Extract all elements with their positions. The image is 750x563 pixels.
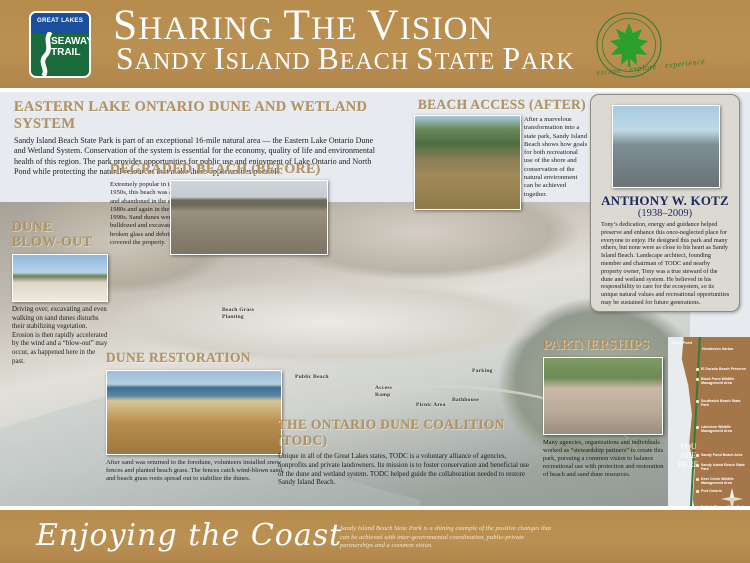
photo-beach-access [414,115,521,210]
section-body-todc: Unique in all of the Great Lakes states,… [278,452,536,487]
photo-anthony-kotz-image [613,106,719,187]
map-place-label: Port Ontario [701,489,747,493]
section-heading-dune-blowout-line2: BLOW-OUT [12,235,110,250]
map-site-marker [696,464,699,467]
section-heading-dune-blowout-line1: DUNE [12,220,110,235]
panel-kotz-memorial: ANTHONY W. KOTZ (1938–2009) Tony’s dedic… [590,94,740,312]
map-site-marker [696,454,699,457]
map-place-label: Stony Point [672,341,712,345]
section-heading-beach-access: BEACH ACCESS (AFTER) [418,97,588,113]
seaway-label-line2: TRAIL [51,47,89,58]
map-site-marker [696,478,699,481]
seaway-trail-logo-inner: GREAT LAKES SEAWAY TRAIL [31,13,89,76]
kotz-memorial-body: Tony’s dedication, energy and guidance h… [601,221,731,307]
interpretive-sign-poster: GREAT LAKES SEAWAY TRAIL SHARING THE VIS… [0,0,750,563]
section-ontario-dune-coalition: THE ONTARIO DUNE COALITION (TODC) Unique… [278,417,540,487]
photo-dune-blowout [12,254,108,302]
section-body-partnerships: Many agencies, organizations and individ… [543,439,667,479]
section-body-dune-blowout: Driving over, excavating and even walkin… [12,306,108,366]
photo-partnerships-ribbon-cutting [543,357,663,435]
photo-degraded-beach [170,180,328,255]
map-site-marker [696,368,699,371]
footer-title: Enjoying the Coast [36,518,342,553]
seaway-trail-top-label: GREAT LAKES [31,17,89,24]
map-place-label: Sandy Pond Beach Area [701,453,747,457]
map-site-marker [696,400,699,403]
map-site-marker [696,378,699,381]
aerial-label: Parking [472,368,493,375]
map-you-are-here-line: YOU [669,442,707,451]
section-heading-dune-restoration: DUNE RESTORATION [106,350,288,366]
photo-dune-blowout-image [13,255,107,301]
seaway-trail-name-label: SEAWAY TRAIL [51,36,89,58]
section-dune-restoration: DUNE RESTORATION After sand was returned… [106,350,288,484]
map-place-label: Black Pond Wildlife Management Area [701,377,747,386]
map-place-label: Deer Creek Wildlife Management Area [701,477,747,486]
section-heading-partnerships: PARTNERSHIPS [543,337,667,353]
section-partnerships: PARTNERSHIPS Many agencies, organization… [543,337,667,479]
aerial-label: Bathhouse [452,397,479,404]
map-site-marker [696,426,699,429]
section-dune-blowout: DUNE BLOW-OUT Driving over, excavating a… [12,220,110,366]
section-beach-access: BEACH ACCESS (AFTER) After a marvelous t… [418,97,588,113]
map-place-label: Sandy Island Beach State Park [701,463,747,472]
section-heading-degraded-beach: DEGRADED BEACH (BEFORE) [110,162,328,178]
footer-quote: Sandy Island Beach State Park is a shini… [340,525,555,551]
aerial-label: Beach GrassPlanting [222,307,254,321]
section-body-beach-access: After a marvelous transformation into a … [524,116,588,199]
photo-beach-access-image [415,116,520,209]
map-place-label: Southwick Beach State Park [701,399,747,408]
section-degraded-beach: DEGRADED BEACH (BEFORE) Extremely popula… [110,162,328,247]
section-heading-eastern-lake-ontario: EASTERN LAKE ONTARIO DUNE AND WETLAND SY… [14,99,386,133]
great-lakes-seaway-trail-logo: GREAT LAKES SEAWAY TRAIL [29,11,91,78]
seaway-label-line1: SEAWAY [51,36,89,47]
photo-anthony-kotz [612,105,720,188]
aerial-label: Picnic Area [416,402,446,409]
poster-header: GREAT LAKES SEAWAY TRAIL SHARING THE VIS… [0,0,750,88]
page-subtitle: SANDY ISLAND BEACH STATE PARK [116,45,575,76]
poster-body: EASTERN LAKE ONTARIO DUNE AND WETLAND SY… [0,92,750,510]
photo-dune-restoration-image [107,371,281,454]
map-place-label: Lakeview Wildlife Management Area [701,425,747,434]
aerial-label: Public Beach [295,374,329,381]
photo-degraded-beach-image [171,181,327,254]
map-place-label: El Dorado Beach Preserve [701,367,747,371]
section-body-dune-restoration: After sand was returned to the foredune,… [106,459,286,484]
photo-partnerships-image [544,358,662,434]
kotz-memorial-years: (1938–2009) [591,208,739,219]
poster-footer: Enjoying the Coast Sandy Island Beach St… [0,510,750,563]
section-heading-todc: THE ONTARIO DUNE COALITION (TODC) [278,417,540,449]
page-title: SHARING THE VISION [113,7,494,47]
locator-map: YOUAREHERE Stony PointHenderson HarborEl… [668,337,750,510]
map-place-label: Henderson Harbor [702,347,742,351]
photo-dune-restoration [106,370,282,455]
kotz-memorial-name: ANTHONY W. KOTZ [591,193,739,209]
map-site-marker [696,490,699,493]
aerial-label: AccessRamp [375,385,392,399]
